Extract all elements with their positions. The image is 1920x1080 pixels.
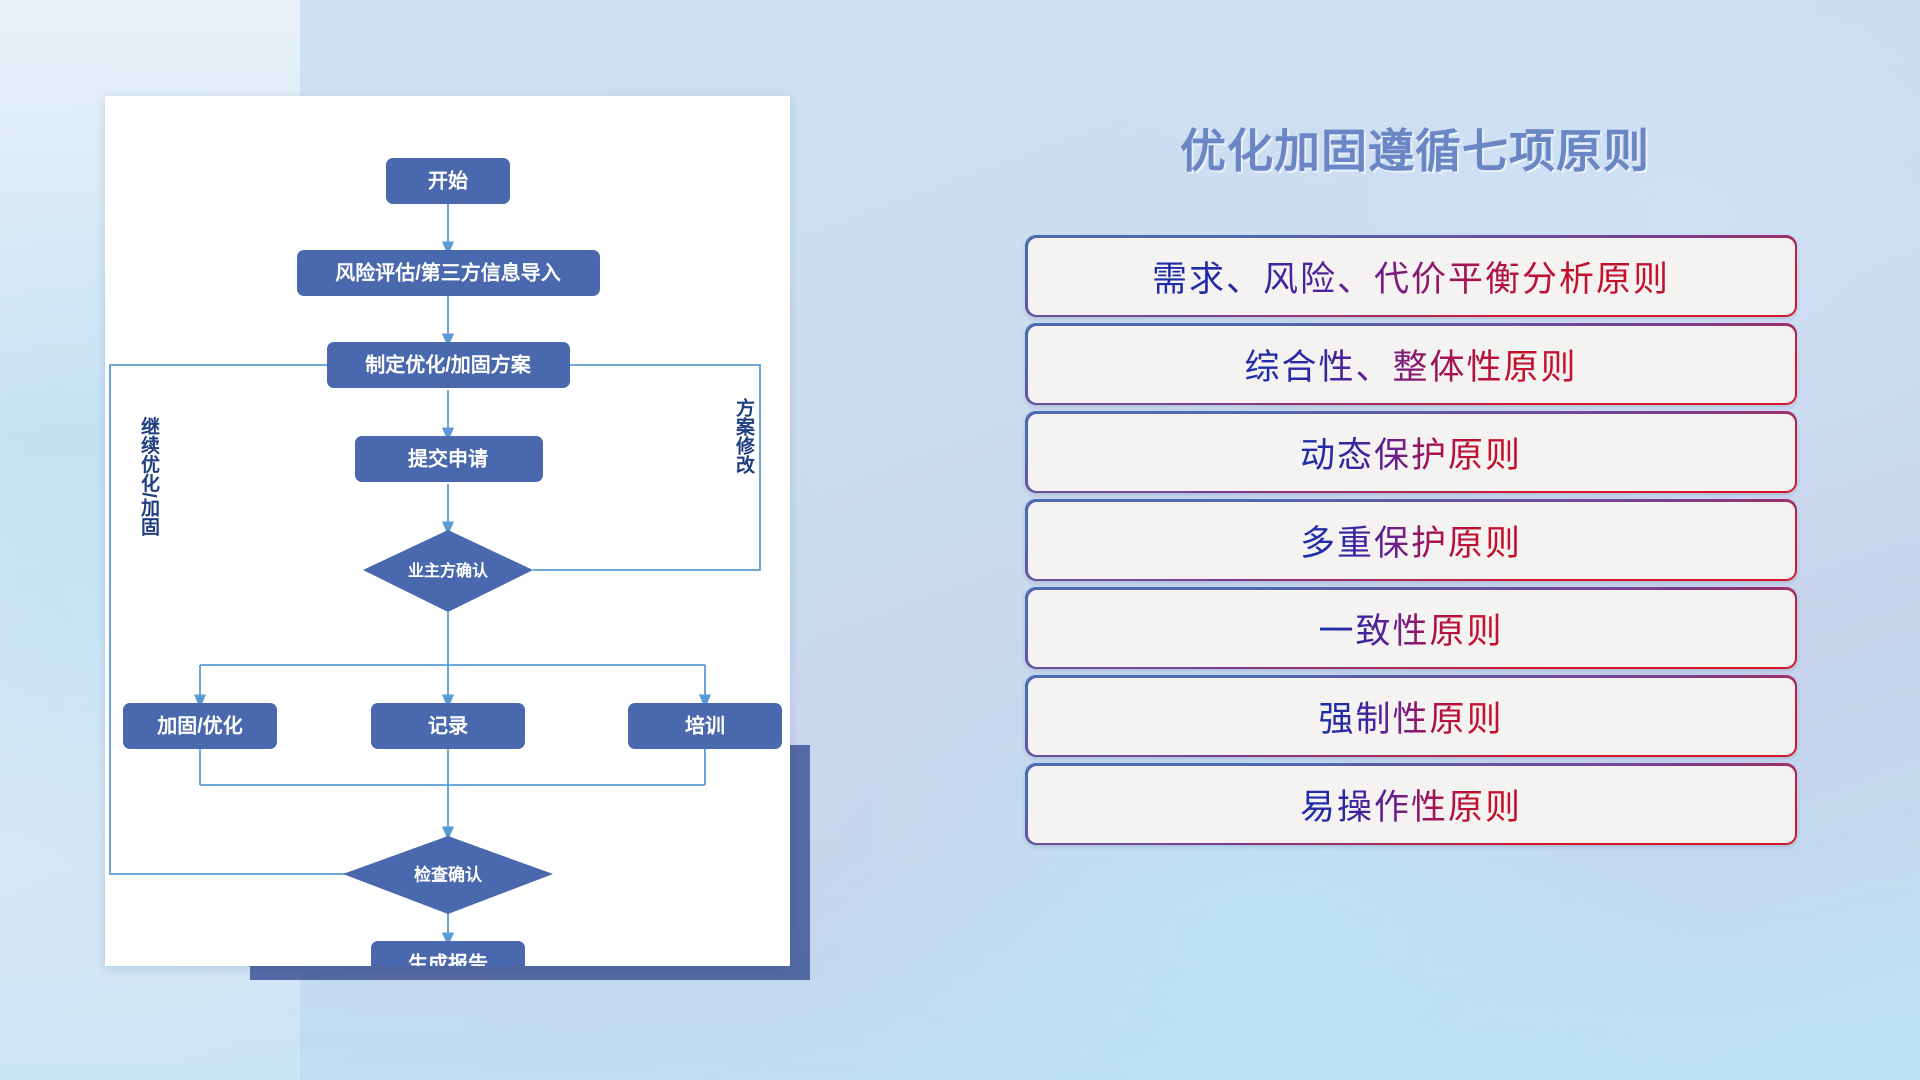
flowchart-card: 开始 风险评估/第三方信息导入 制定优化/加固方案 提交申请 业主方确认 加固/…: [105, 96, 790, 966]
principle-item-6-label: 强制性原则: [1318, 691, 1503, 742]
principle-item-5-label: 一致性原则: [1318, 603, 1503, 654]
principle-item-2-label: 综合性、整体性原则: [1244, 339, 1577, 390]
principle-item-4-inner: 多重保护原则: [1028, 502, 1795, 579]
principle-item-1[interactable]: 需求、风险、代价平衡分析原则: [1025, 235, 1797, 317]
principles-panel: 优化加固遵循七项原则 需求、风险、代价平衡分析原则 综合性、整体性原则 动态保护…: [1020, 100, 1820, 980]
principle-item-7-label: 易操作性原则: [1300, 779, 1522, 830]
principle-list: 需求、风险、代价平衡分析原则 综合性、整体性原则 动态保护原则 多重保护原则 一…: [1025, 235, 1797, 851]
principle-item-6[interactable]: 强制性原则: [1025, 675, 1797, 757]
flow-edge-label-left: 继续优化/加固: [138, 415, 161, 536]
principle-item-4[interactable]: 多重保护原则: [1025, 499, 1797, 581]
principle-item-7-inner: 易操作性原则: [1028, 766, 1795, 843]
principle-item-2[interactable]: 综合性、整体性原则: [1025, 323, 1797, 405]
principle-item-6-inner: 强制性原则: [1028, 678, 1795, 755]
principle-item-5-inner: 一致性原则: [1028, 590, 1795, 667]
principle-item-7[interactable]: 易操作性原则: [1025, 763, 1797, 845]
principle-item-2-inner: 综合性、整体性原则: [1028, 326, 1795, 403]
principle-item-3-inner: 动态保护原则: [1028, 414, 1795, 491]
principle-item-1-label: 需求、风险、代价平衡分析原则: [1152, 251, 1670, 302]
flow-edge-label-right: 方案修改: [733, 397, 756, 475]
principle-item-4-label: 多重保护原则: [1300, 515, 1522, 566]
principle-item-1-inner: 需求、风险、代价平衡分析原则: [1028, 238, 1795, 315]
panel-title: 优化加固遵循七项原则: [1020, 115, 1810, 181]
principle-item-3-label: 动态保护原则: [1300, 427, 1522, 478]
principle-item-5[interactable]: 一致性原则: [1025, 587, 1797, 669]
principle-item-3[interactable]: 动态保护原则: [1025, 411, 1797, 493]
flowchart-overlay-svg: 结束 继续优化/加固 方案修改: [105, 96, 790, 966]
